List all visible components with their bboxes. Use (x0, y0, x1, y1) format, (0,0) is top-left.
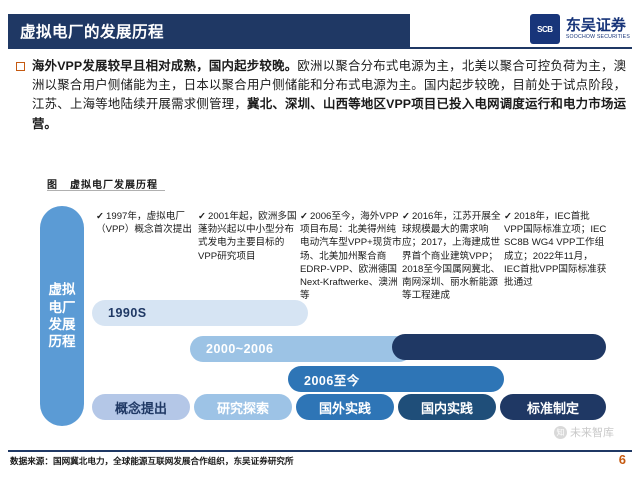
stage-label-1: 概念提出 (92, 394, 190, 420)
era-band-dark (392, 334, 606, 360)
check-icon: ✓ (198, 211, 206, 222)
era-band-2006-present: 2006至今 (288, 366, 504, 392)
timeline-column-1-text: 1997年，虚拟电厂（VPP）概念首次提出 (96, 211, 192, 235)
logo-mark-icon: SCB (530, 14, 560, 44)
figure-caption: 图虚拟电厂发展历程 (47, 176, 158, 191)
logo-company-en: SOOCHOW SECURITIES (566, 34, 630, 40)
stage-label-4: 国内实践 (398, 394, 496, 420)
stage-label-3: 国外实践 (296, 394, 394, 420)
check-icon: ✓ (300, 211, 308, 222)
era-band-1990s: 1990S (92, 300, 308, 326)
slide: 虚拟电厂的发展历程 SCB 东吴证券 SOOCHOW SECURITIES 海外… (0, 0, 640, 480)
watermark-text: 未来智库 (570, 424, 614, 440)
timeline-column-2: ✓2001年起，欧洲多国蓬勃兴起以中小型分布式发电为主要目标的VPP研究项目 (198, 210, 302, 263)
timeline-column-4-text: 2016年，江苏开展全球规模最大的需求响应；2017，上海建成世界首个商业建筑V… (402, 211, 501, 301)
footer-rule (8, 450, 632, 452)
check-icon: ✓ (504, 211, 512, 222)
timeline-column-4: ✓2016年，江苏开展全球规模最大的需求响应；2017，上海建成世界首个商业建筑… (402, 210, 506, 303)
timeline-column-5-text: 2018年，IEC首批VPP国际标准立项；IEC SC8B WG4 VPP工作组… (504, 211, 606, 288)
logo-company-cn: 东吴证券 (566, 18, 630, 34)
slide-header: 虚拟电厂的发展历程 SCB 东吴证券 SOOCHOW SECURITIES (0, 14, 640, 50)
title-underline (8, 47, 632, 49)
diagram-left-pill: 虚拟电厂发展历程 (40, 206, 84, 426)
bullet-block: 海外VPP发展较早且相对成熟，国内起步较晚。欧洲以聚合分布式电源为主，北美以聚合… (16, 57, 626, 134)
timeline-column-2-text: 2001年起，欧洲多国蓬勃兴起以中小型分布式发电为主要目标的VPP研究项目 (198, 211, 297, 262)
check-icon: ✓ (96, 211, 104, 222)
timeline-diagram: 虚拟电厂发展历程 1990S 2000~2006 2006至今 ✓1997年，虚… (40, 196, 608, 436)
timeline-column-3: ✓2006至今，海外VPP项目布局：北美得州纯电动汽车型VPP+现货市场、北美加… (300, 210, 404, 303)
timeline-column-1: ✓1997年，虚拟电厂（VPP）概念首次提出 (96, 210, 200, 236)
timeline-column-5: ✓2018年，IEC首批VPP国际标准立项；IEC SC8B WG4 VPP工作… (504, 210, 608, 289)
watermark: 知 未来智库 (554, 424, 614, 440)
watermark-badge-icon: 知 (554, 426, 567, 439)
stage-label-5: 标准制定 (500, 394, 606, 420)
footer-source: 数据来源：国网冀北电力，全球能源互联网发展合作组织，东吴证券研究所 (10, 455, 294, 467)
timeline-column-3-text: 2006至今，海外VPP项目布局：北美得州纯电动汽车型VPP+现货市场、北美加州… (300, 211, 402, 301)
check-icon: ✓ (402, 211, 410, 222)
company-logo: SCB 东吴证券 SOOCHOW SECURITIES (530, 14, 630, 44)
figure-caption-rule (47, 190, 165, 191)
bullet-paragraph: 海外VPP发展较早且相对成熟，国内起步较晚。欧洲以聚合分布式电源为主，北美以聚合… (32, 57, 626, 134)
stage-label-2: 研究探索 (194, 394, 292, 420)
page-title: 虚拟电厂的发展历程 (8, 20, 164, 42)
slide-title-bar: 虚拟电厂的发展历程 (8, 14, 410, 47)
era-band-2000-2006: 2000~2006 (190, 336, 412, 362)
bullet-square-icon (16, 62, 25, 71)
page-number: 6 (619, 452, 626, 467)
bullet-lead: 海外VPP发展较早且相对成熟，国内起步较晚。 (32, 59, 297, 73)
